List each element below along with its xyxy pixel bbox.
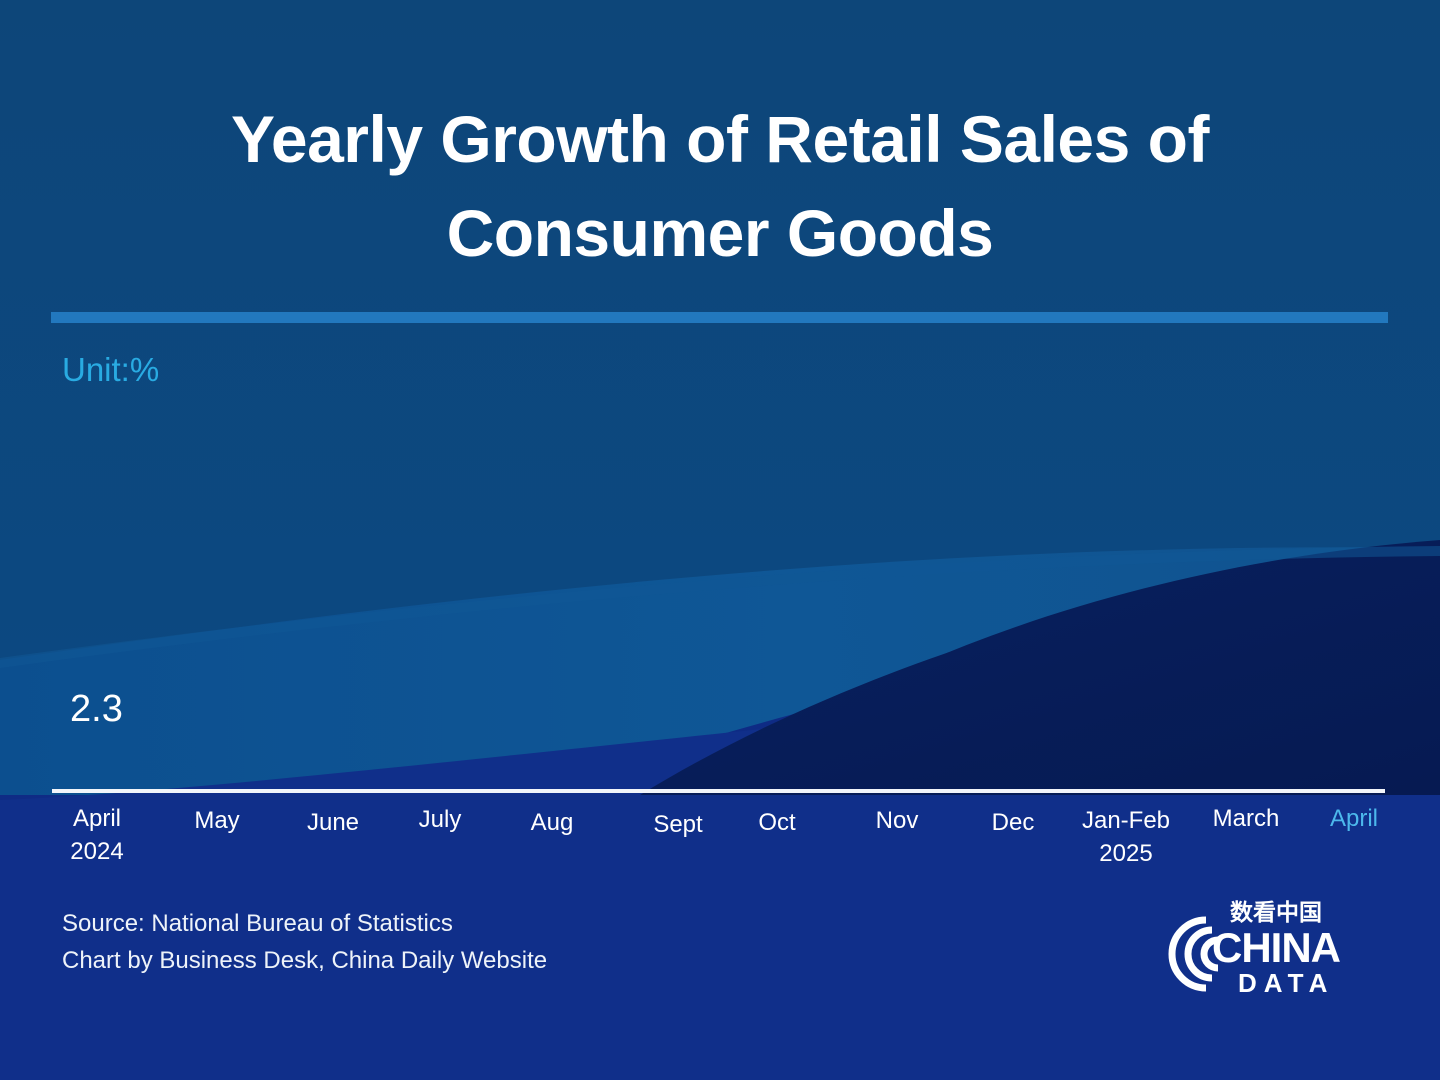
x-tick-7: Nov [832, 804, 962, 837]
source-line-1: Source: National Bureau of Statistics [62, 905, 547, 942]
x-tick-label-10: March [1213, 805, 1280, 832]
x-tick-label-5: Sept [653, 811, 702, 838]
infographic-slide: Yearly Growth of Retail Sales of Consume… [0, 0, 1440, 1080]
x-tick-label-4: Aug [531, 809, 574, 836]
x-tick-0: April 2024 [32, 802, 162, 868]
x-tick-label-3: July [419, 806, 462, 833]
x-tick-3: July [375, 803, 505, 836]
title-line-2: Consumer Goods [70, 186, 1370, 280]
x-tick-11: April [1289, 802, 1419, 835]
source-line-2: Chart by Business Desk, China Daily Webs… [62, 942, 547, 979]
x-tick-sublabel-9: 2025 [1061, 837, 1191, 870]
unit-label: Unit:% [62, 348, 159, 392]
x-tick-label-8: Dec [992, 809, 1035, 836]
x-tick-label-9: Jan-Feb [1082, 807, 1170, 834]
data-point-label: 2.3 [70, 686, 123, 732]
source-attribution: Source: National Bureau of Statistics Ch… [62, 905, 547, 979]
logo-chinese-text: 数看中国 [1230, 900, 1322, 926]
logo-china-text: CHINA [1212, 924, 1341, 971]
x-tick-9: Jan-Feb 2025 [1061, 804, 1191, 870]
x-tick-label-7: Nov [876, 807, 919, 834]
china-data-logo: 数看中国 CHINA DATA [1168, 896, 1372, 1000]
x-tick-8: Dec [948, 806, 1078, 839]
page-title: Yearly Growth of Retail Sales of Consume… [0, 92, 1440, 280]
x-tick-1: May [152, 804, 282, 837]
logo-data-text: DATA [1238, 968, 1334, 998]
x-axis-labels: April 2024 May June July Aug Sept Oct No… [40, 800, 1400, 880]
x-tick-4: Aug [487, 806, 617, 839]
x-tick-sublabel-0: 2024 [32, 835, 162, 868]
x-tick-label-0: April [73, 805, 121, 832]
x-tick-label-11: April [1330, 805, 1378, 832]
x-tick-label-1: May [194, 807, 239, 834]
x-axis-line [52, 789, 1385, 793]
x-tick-label-2: June [307, 809, 359, 836]
x-tick-6: Oct [712, 806, 842, 839]
title-line-1: Yearly Growth of Retail Sales of [70, 92, 1370, 186]
x-tick-label-6: Oct [758, 809, 795, 836]
title-divider [51, 312, 1388, 323]
